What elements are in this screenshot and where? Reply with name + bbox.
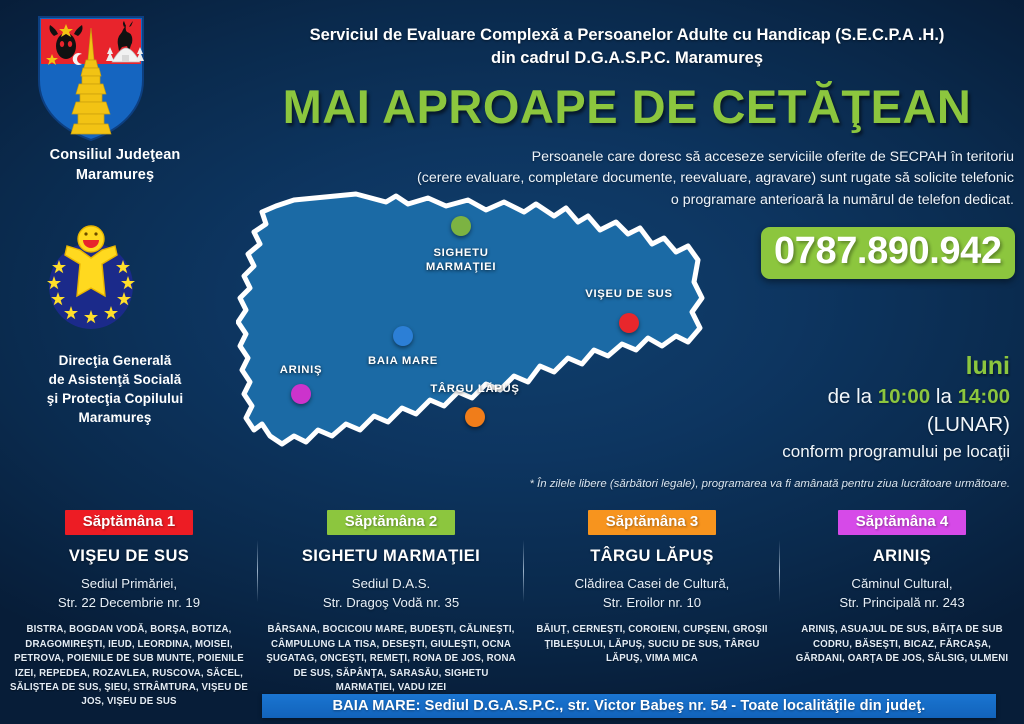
schedule-block: luni de la 10:00 la 14:00 (LUNAR) confor… bbox=[610, 352, 1010, 463]
map-label-vi-eu-de-sus: VIŞEU DE SUS bbox=[539, 288, 719, 302]
week-localities-4: ARINIŞ, ASUAJUL DE SUS, BĂIŢA DE SUB COD… bbox=[780, 623, 1024, 666]
dgaspc-star-child-eu-logo-icon bbox=[45, 222, 137, 332]
map-dot-sighetu[interactable] bbox=[451, 216, 471, 236]
week-address-1: Sediul Primăriei,Str. 22 Decembrie nr. 1… bbox=[0, 575, 258, 612]
week-address-2: Sediul D.A.S.Str. Dragoş Vodă nr. 35 bbox=[258, 575, 524, 612]
week-column-2: Săptămâna 2SIGHETU MARMAŢIEISediul D.A.S… bbox=[258, 510, 524, 695]
week-address-line2: Str. Dragoş Vodă nr. 35 bbox=[258, 594, 524, 613]
week-columns: Săptămâna 1VIŞEU DE SUSSediul Primăriei,… bbox=[0, 510, 1024, 695]
schedule-lunar: (LUNAR) bbox=[610, 412, 1010, 438]
week-city-2: SIGHETU MARMAŢIEI bbox=[258, 547, 524, 566]
week-address-line1: Clădirea Casei de Cultură, bbox=[524, 575, 780, 594]
schedule-time-start: 10:00 bbox=[878, 385, 930, 408]
column-divider bbox=[257, 540, 258, 602]
page-title: MAI APROAPE DE CETĂŢEAN bbox=[230, 83, 1024, 130]
column-divider bbox=[523, 540, 524, 602]
council-label-text: Consiliul JudeţeanMaramureş bbox=[0, 146, 230, 185]
schedule-hours: de la 10:00 la 14:00 bbox=[610, 384, 1010, 410]
map-label-t-rgu-l-pu-: TÂRGU LĂPUŞ bbox=[385, 383, 565, 397]
week-address-line2: Str. Principală nr. 243 bbox=[780, 594, 1024, 613]
column-divider bbox=[779, 540, 780, 602]
map-dot-t-rgu-l-pu-[interactable] bbox=[465, 407, 485, 427]
week-address-3: Clădirea Casei de Cultură,Str. Eroilor n… bbox=[524, 575, 780, 612]
header: Serviciul de Evaluare Complexă a Persoan… bbox=[230, 0, 1024, 212]
schedule-from-label: de la bbox=[828, 385, 872, 408]
dgaspc-label: Direcţia Generalăde Asistenţă Socialăşi … bbox=[0, 352, 230, 428]
week-address-line2: Str. Eroilor nr. 10 bbox=[524, 594, 780, 613]
week-column-3: Săptămâna 3TÂRGU LĂPUŞClădirea Casei de … bbox=[524, 510, 780, 667]
week-city-4: ARINIŞ bbox=[780, 547, 1024, 566]
phone-number-badge[interactable]: 0787.890.942 bbox=[761, 227, 1015, 279]
header-subtitle: Serviciul de Evaluare Complexă a Persoan… bbox=[230, 0, 1024, 71]
week-column-4: Săptămâna 4ARINIŞCăminul Cultural,Str. P… bbox=[780, 510, 1024, 667]
intro-line1: Persoanele care doresc să acceseze servi… bbox=[230, 147, 1014, 169]
week-localities-2: BÂRSANA, BOCICOIU MARE, BUDEŞTI, CĂLINEŞ… bbox=[258, 623, 524, 695]
header-subtitle-line1: Serviciul de Evaluare Complexă a Persoan… bbox=[230, 24, 1024, 47]
week-localities-1: BISTRA, BOGDAN VODĂ, BORŞA, BOTIZA, DRAG… bbox=[0, 623, 258, 709]
council-label: Consiliul JudeţeanMaramureş bbox=[0, 146, 230, 185]
week-badge-3[interactable]: Săptămâna 3 bbox=[588, 510, 717, 535]
week-address-line1: Sediul D.A.S. bbox=[258, 575, 524, 594]
week-city-1: VIŞEU DE SUS bbox=[0, 547, 258, 566]
map-label-sighetu: SIGHETUMARMAŢIEI bbox=[371, 247, 551, 275]
phone-number: 0787.890.942 bbox=[774, 232, 1002, 272]
week-city-3: TÂRGU LĂPUŞ bbox=[524, 547, 780, 566]
week-localities-3: BĂIUŢ, CERNEŞTI, COROIENI, CUPŞENI, GROŞ… bbox=[524, 623, 780, 666]
week-badge-2[interactable]: Săptămâna 2 bbox=[327, 510, 456, 535]
header-subtitle-line2: din cadrul D.G.A.S.P.C. Maramureş bbox=[230, 47, 1024, 70]
sidebar: Consiliul JudeţeanMaramureş bbox=[0, 0, 230, 500]
week-address-4: Căminul Cultural,Str. Principală nr. 243 bbox=[780, 575, 1024, 612]
dgaspc-label-text: Direcţia Generalăde Asistenţă Socialăşi … bbox=[0, 352, 230, 428]
schedule-day: luni bbox=[610, 352, 1010, 381]
bottom-banner-text: BAIA MARE: Sediul D.G.A.S.P.C., str. Vic… bbox=[333, 698, 926, 714]
poster-root: Consiliul JudeţeanMaramureş bbox=[0, 0, 1024, 724]
week-column-1: Săptămâna 1VIŞEU DE SUSSediul Primăriei,… bbox=[0, 510, 258, 710]
week-badge-1[interactable]: Săptămâna 1 bbox=[65, 510, 194, 535]
map-dot-arini-[interactable] bbox=[291, 384, 311, 404]
week-badge-4[interactable]: Săptămâna 4 bbox=[838, 510, 967, 535]
map-dot-vi-eu-de-sus[interactable] bbox=[619, 313, 639, 333]
map-dot-baia-mare[interactable] bbox=[393, 326, 413, 346]
week-address-line2: Str. 22 Decembrie nr. 19 bbox=[0, 594, 258, 613]
map-label-arini-: ARINIŞ bbox=[211, 364, 391, 378]
schedule-to-label: la bbox=[936, 385, 952, 408]
maramures-coat-of-arms-icon bbox=[36, 14, 146, 142]
week-address-line1: Sediul Primăriei, bbox=[0, 575, 258, 594]
week-address-line1: Căminul Cultural, bbox=[780, 575, 1024, 594]
footnote: * În zilele libere (sărbători legale), p… bbox=[310, 478, 1010, 490]
bottom-banner: BAIA MARE: Sediul D.G.A.S.P.C., str. Vic… bbox=[262, 694, 996, 718]
schedule-time-end: 14:00 bbox=[958, 385, 1010, 408]
schedule-note: conform programului pe locaţii bbox=[610, 441, 1010, 463]
